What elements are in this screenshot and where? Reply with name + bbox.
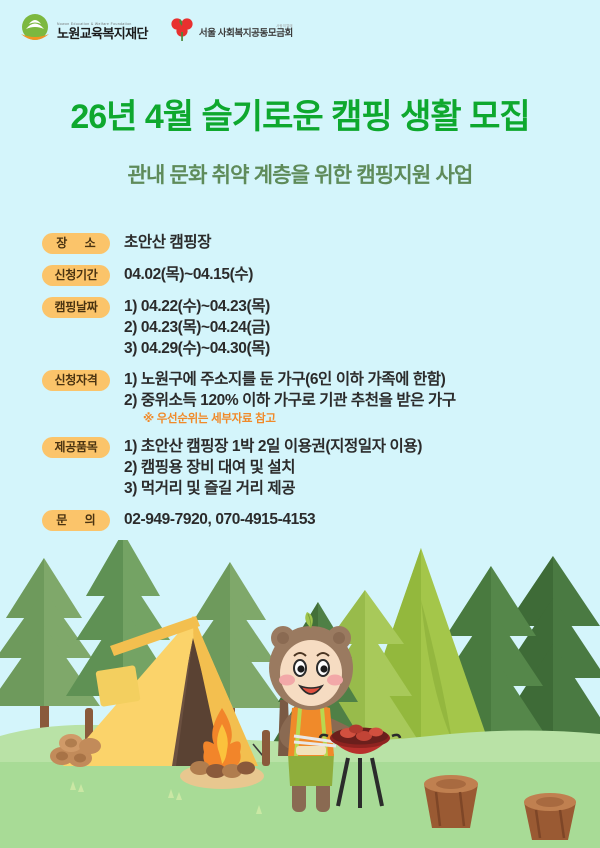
value-camping-date-2: 3) 04.29(수)~04.30(목): [124, 338, 270, 359]
eligibility-note: ※ 우선순위는 세부자료 참고: [143, 411, 456, 428]
info-block: 장 소 초안산 캠핑장 신청기간 04.02(목)~04.15(수) 캠핑날짜 …: [42, 232, 562, 541]
value-camping-date-1: 2) 04.23(목)~04.24(금): [124, 317, 270, 338]
label-application-period: 신청기간: [42, 265, 110, 286]
value-contact-0: 02-949-7920, 070-4915-4153: [124, 509, 315, 530]
info-row-place: 장 소 초안산 캠핑장: [42, 232, 562, 254]
values-provided-items: 1) 초안산 캠핑장 1박 2일 이용권(지정일자 이용) 2) 캠핑용 장비 …: [124, 436, 422, 499]
red-fruit-logo: [170, 15, 194, 48]
poster: Nowon Education & Welfare Foundation 노원교…: [0, 0, 600, 848]
green-orange-circle-logo: [18, 12, 52, 51]
value-application-period-0: 04.02(목)~04.15(수): [124, 264, 253, 285]
info-row-application-period: 신청기간 04.02(목)~04.15(수): [42, 264, 562, 286]
values-contact: 02-949-7920, 070-4915-4153: [124, 509, 315, 530]
info-row-provided-items: 제공품목 1) 초안산 캠핑장 1박 2일 이용권(지정일자 이용) 2) 캠핑…: [42, 436, 562, 499]
logo-name-seoul: 서울 사회복지공동모금회: [199, 29, 293, 39]
label-provided-items: 제공품목: [42, 437, 110, 458]
values-camping-dates: 1) 04.22(수)~04.23(목) 2) 04.23(목)~04.24(금…: [124, 296, 270, 359]
camping-illustration: [0, 540, 600, 848]
logo-text-seoul: 사랑의열매 서울 사회복지공동모금회: [199, 25, 293, 39]
label-place: 장 소: [42, 233, 110, 254]
value-place-0: 초안산 캠핑장: [124, 232, 211, 253]
logo-bar: Nowon Education & Welfare Foundation 노원교…: [18, 12, 293, 51]
values-place: 초안산 캠핑장: [124, 232, 211, 253]
values-application-period: 04.02(목)~04.15(수): [124, 264, 253, 285]
value-provided-item-1: 2) 캠핑용 장비 대여 및 설치: [124, 457, 422, 478]
label-eligibility: 신청자격: [42, 370, 110, 391]
value-provided-item-2: 3) 먹거리 및 즐길 거리 제공: [124, 478, 422, 499]
info-row-camping-dates: 캠핑날짜 1) 04.22(수)~04.23(목) 2) 04.23(목)~04…: [42, 296, 562, 359]
page-title: 26년 4월 슬기로운 캠핑 생활 모집: [0, 100, 600, 134]
info-row-contact: 문 의 02-949-7920, 070-4915-4153: [42, 509, 562, 531]
logo-nowon-foundation: Nowon Education & Welfare Foundation 노원교…: [18, 12, 148, 51]
tent-window: [95, 665, 140, 707]
value-eligibility-0: 1) 노원구에 주소지를 둔 가구(6인 이하 가족에 한함): [124, 369, 456, 390]
page-subtitle: 관내 문화 취약 계층을 위한 캠핑지원 사업: [0, 165, 600, 186]
value-eligibility-1: 2) 중위소득 120% 이하 가구로 기관 추천을 받은 가구: [124, 390, 456, 411]
logo-seoul-community-chest: 사랑의열매 서울 사회복지공동모금회: [170, 15, 293, 48]
value-camping-date-0: 1) 04.22(수)~04.23(목): [124, 296, 270, 317]
info-row-eligibility: 신청자격 1) 노원구에 주소지를 둔 가구(6인 이하 가족에 한함) 2) …: [42, 369, 562, 428]
label-contact: 문 의: [42, 510, 110, 531]
values-eligibility: 1) 노원구에 주소지를 둔 가구(6인 이하 가족에 한함) 2) 중위소득 …: [124, 369, 456, 428]
value-provided-item-0: 1) 초안산 캠핑장 1박 2일 이용권(지정일자 이용): [124, 436, 422, 457]
logo-text-nowon: Nowon Education & Welfare Foundation 노원교…: [57, 23, 148, 40]
label-camping-dates: 캠핑날짜: [42, 297, 110, 318]
logo-name-nowon: 노원교육복지재단: [57, 27, 148, 40]
